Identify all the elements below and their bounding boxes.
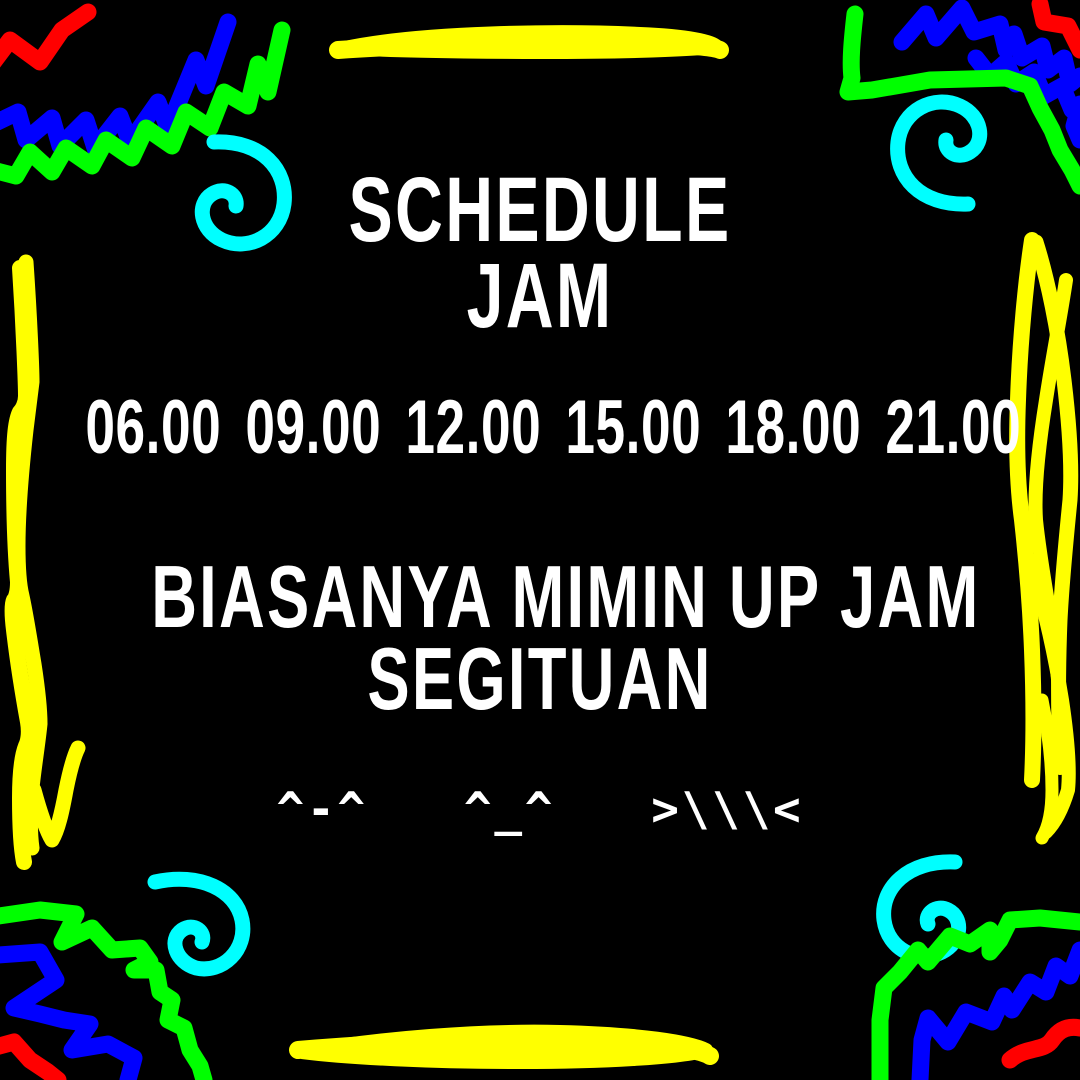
schedule-poster: SCHEDULE JAM 06.00 09.00 12.00 15.00 18.… [0, 0, 1080, 1080]
schedule-time: 12.00 [404, 384, 516, 471]
schedule-time: 09.00 [244, 384, 356, 471]
schedule-time: 18.00 [724, 384, 836, 471]
kaomoji-squint-face: >\\\< [651, 782, 803, 836]
kaomoji-row: ^-^ ^_^ >\\\< [0, 782, 1080, 836]
poster-title-line-1: SCHEDULE [151, 168, 929, 254]
kaomoji-happy-face: ^-^ [276, 782, 367, 836]
kaomoji-smiling-face: ^_^ [464, 782, 555, 836]
title-block: SCHEDULE JAM [0, 168, 1080, 339]
schedule-time: 06.00 [84, 384, 196, 471]
message-line-2: SEGITUAN [151, 638, 929, 720]
schedule-times-row: 06.00 09.00 12.00 15.00 18.00 21.00 [0, 384, 1080, 471]
schedule-time: 21.00 [884, 384, 996, 471]
message-line-1: BIASANYA MIMIN UP JAM [151, 556, 929, 638]
poster-content: SCHEDULE JAM 06.00 09.00 12.00 15.00 18.… [0, 0, 1080, 1080]
message-block: BIASANYA MIMIN UP JAM SEGITUAN [0, 556, 1080, 720]
schedule-time: 15.00 [564, 384, 676, 471]
poster-title-line-2: JAM [151, 254, 929, 340]
